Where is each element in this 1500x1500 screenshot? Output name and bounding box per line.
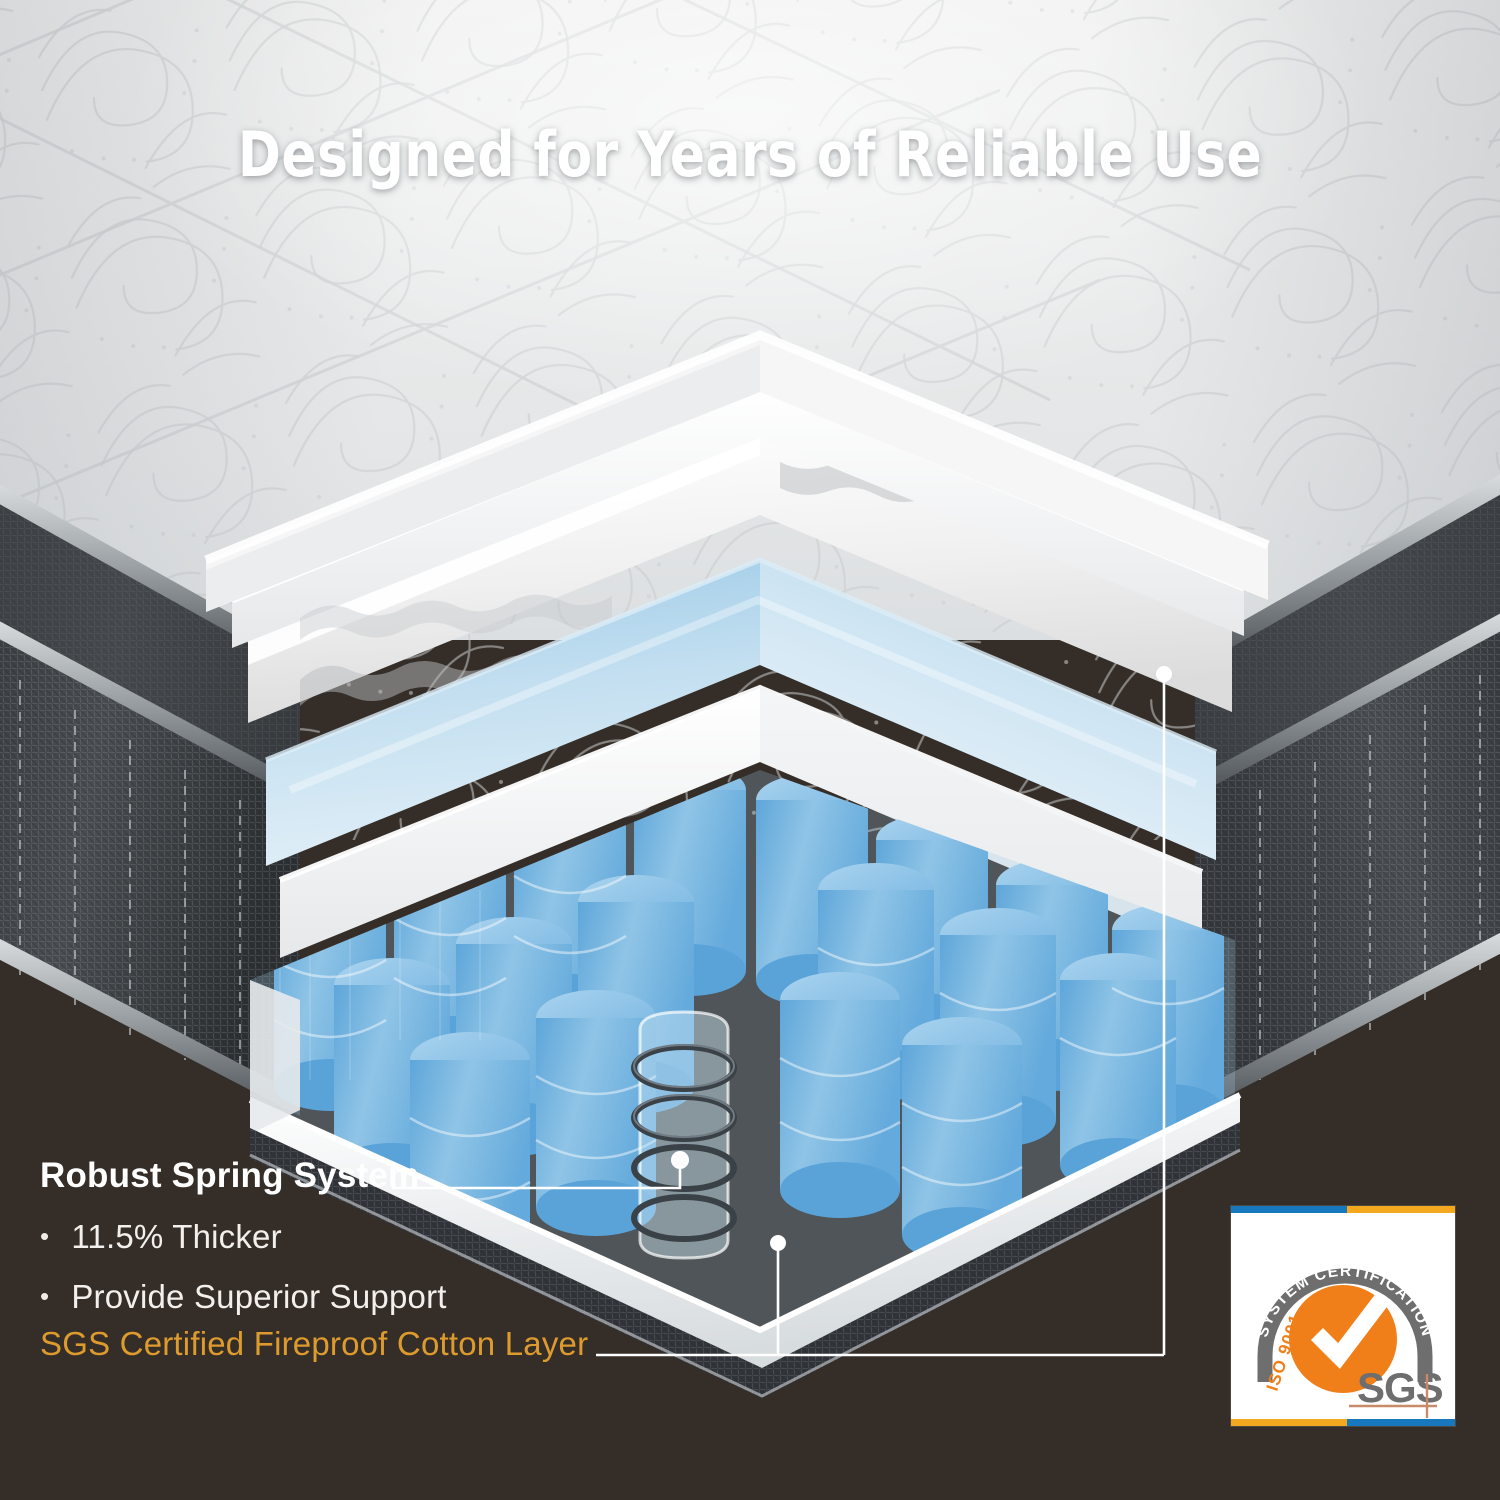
bullet-text-support: Provide Superior Support: [71, 1280, 446, 1313]
sgs-certification-badge: SYSTEM CERTIFICATION ISO 9001 SGS: [1231, 1206, 1455, 1426]
callout-title-spring-system: Robust Spring System: [40, 1158, 740, 1193]
sgs-logo-artwork: SYSTEM CERTIFICATION ISO 9001 SGS: [1231, 1206, 1455, 1426]
callout-label-fireproof-cotton: SGS Certified Fireproof Cotton Layer: [40, 1327, 588, 1360]
bullet-icon: •: [40, 1223, 49, 1249]
list-item: • 11.5% Thicker: [40, 1220, 740, 1253]
bullet-text-thicker: 11.5% Thicker: [71, 1220, 281, 1253]
product-feature-image: Designed for Years of Reliable Use: [0, 0, 1500, 1500]
list-item: • Provide Superior Support: [40, 1280, 740, 1313]
badge-wordmark: SGS: [1357, 1364, 1443, 1411]
bullet-icon: •: [40, 1283, 49, 1309]
callout-text-block: Robust Spring System • 11.5% Thicker • P…: [40, 1158, 740, 1313]
callout-bullet-list: • 11.5% Thicker • Provide Superior Suppo…: [40, 1220, 740, 1313]
